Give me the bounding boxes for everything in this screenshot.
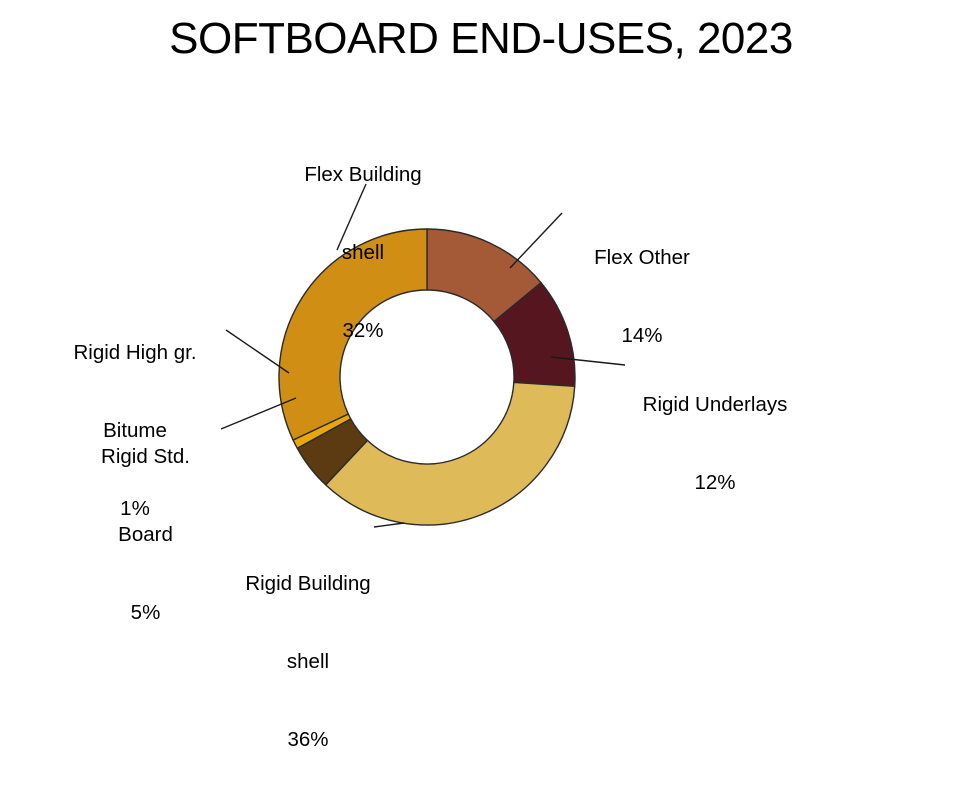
callout-rigid-std-board-value: 5% [58, 600, 233, 626]
callout-rigid-underlays-line1: Rigid Underlays [630, 392, 800, 418]
callout-rigid-building-shell-line2: shell [208, 649, 408, 675]
callout-rigid-underlays: Rigid Underlays 12% [630, 340, 800, 548]
callout-flex-building-shell-line1: Flex Building [263, 162, 463, 188]
callout-flex-building-shell-value: 32% [263, 318, 463, 344]
callout-flex-building-shell: Flex Building shell 32% [263, 110, 463, 396]
callout-rigid-high-gr-bitume: Rigid High gr. Bitume 1% [40, 288, 230, 574]
callout-flex-other-line1: Flex Other [552, 245, 732, 271]
callout-rigid-building-shell-value: 36% [208, 727, 408, 753]
callout-rigid-high-gr-bitume-line1: Rigid High gr. [40, 340, 230, 366]
chart-canvas: SOFTBOARD END-USES, 2023 Flex Building s… [0, 0, 962, 611]
callout-rigid-high-gr-bitume-line2: Bitume [40, 418, 230, 444]
callout-rigid-building-shell: Rigid Building shell 36% [208, 519, 408, 805]
callout-rigid-building-shell-line1: Rigid Building [208, 571, 408, 597]
callout-flex-building-shell-line2: shell [263, 240, 463, 266]
callout-rigid-high-gr-bitume-value: 1% [40, 496, 230, 522]
callout-rigid-underlays-value: 12% [630, 470, 800, 496]
pie-slice-rigid-building-shell[interactable] [326, 382, 575, 525]
